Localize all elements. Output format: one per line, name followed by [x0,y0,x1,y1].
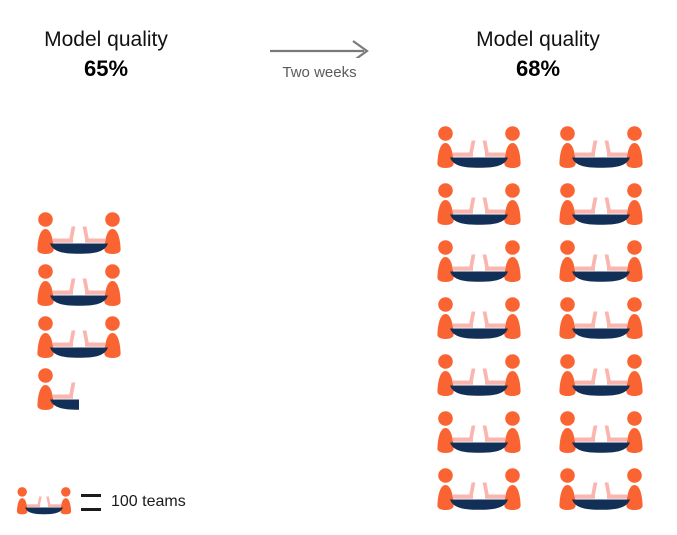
panel-label-after: Model quality [448,28,628,53]
legend-text: 100 teams [111,493,186,511]
rowing-team-icon [558,183,644,229]
pictogram-icon [558,297,644,343]
legend: 100 teams [16,487,186,517]
rowing-team-icon [558,468,644,514]
panel-heading-before: Model quality 65% [16,28,196,82]
rowing-team-icon [558,411,644,457]
rowing-team-icon [558,297,644,343]
pictogram-icon [36,316,122,362]
panel-heading-after: Model quality 68% [448,28,628,82]
rowing-team-icon [36,212,122,258]
panel-value-after: 68% [448,56,628,82]
transition-caption: Two weeks [262,64,377,81]
pictogram-icon [436,468,522,514]
pictogram-icon [36,264,122,310]
pictogram-icon [436,354,522,400]
pictogram-icon [558,354,644,400]
pictogram-icon [558,468,644,514]
pictogram-icon [436,183,522,229]
pictogram-icon [558,183,644,229]
rowing-team-icon [16,487,72,517]
transition-group: Two weeks [262,38,377,81]
pictogram-icon [436,126,522,172]
rowing-team-icon [436,240,522,286]
rowing-team-icon [558,126,644,172]
legend-icon-wrap [16,487,72,517]
equals-icon [81,494,101,511]
arrow-right-icon [268,38,372,58]
pictogram-icon [558,126,644,172]
pictogram-icon [436,297,522,343]
pictogram-icon-partial [36,368,79,414]
panel-label-before: Model quality [16,28,196,53]
rowing-team-icon [436,126,522,172]
pictogram-icon [558,411,644,457]
pictogram-icon [36,212,122,258]
rowing-team-icon [436,354,522,400]
rowing-team-icon [36,264,122,310]
rowing-team-icon [36,316,122,362]
rowing-team-icon [558,354,644,400]
rowing-team-icon [36,368,79,414]
pictogram-icon [436,240,522,286]
rowing-team-icon [436,411,522,457]
pictogram-icon [558,240,644,286]
pictogram-icon [436,411,522,457]
rowing-team-icon [558,240,644,286]
rowing-team-icon [436,297,522,343]
rowing-team-icon [436,183,522,229]
panel-value-before: 65% [16,56,196,82]
rowing-team-icon [436,468,522,514]
